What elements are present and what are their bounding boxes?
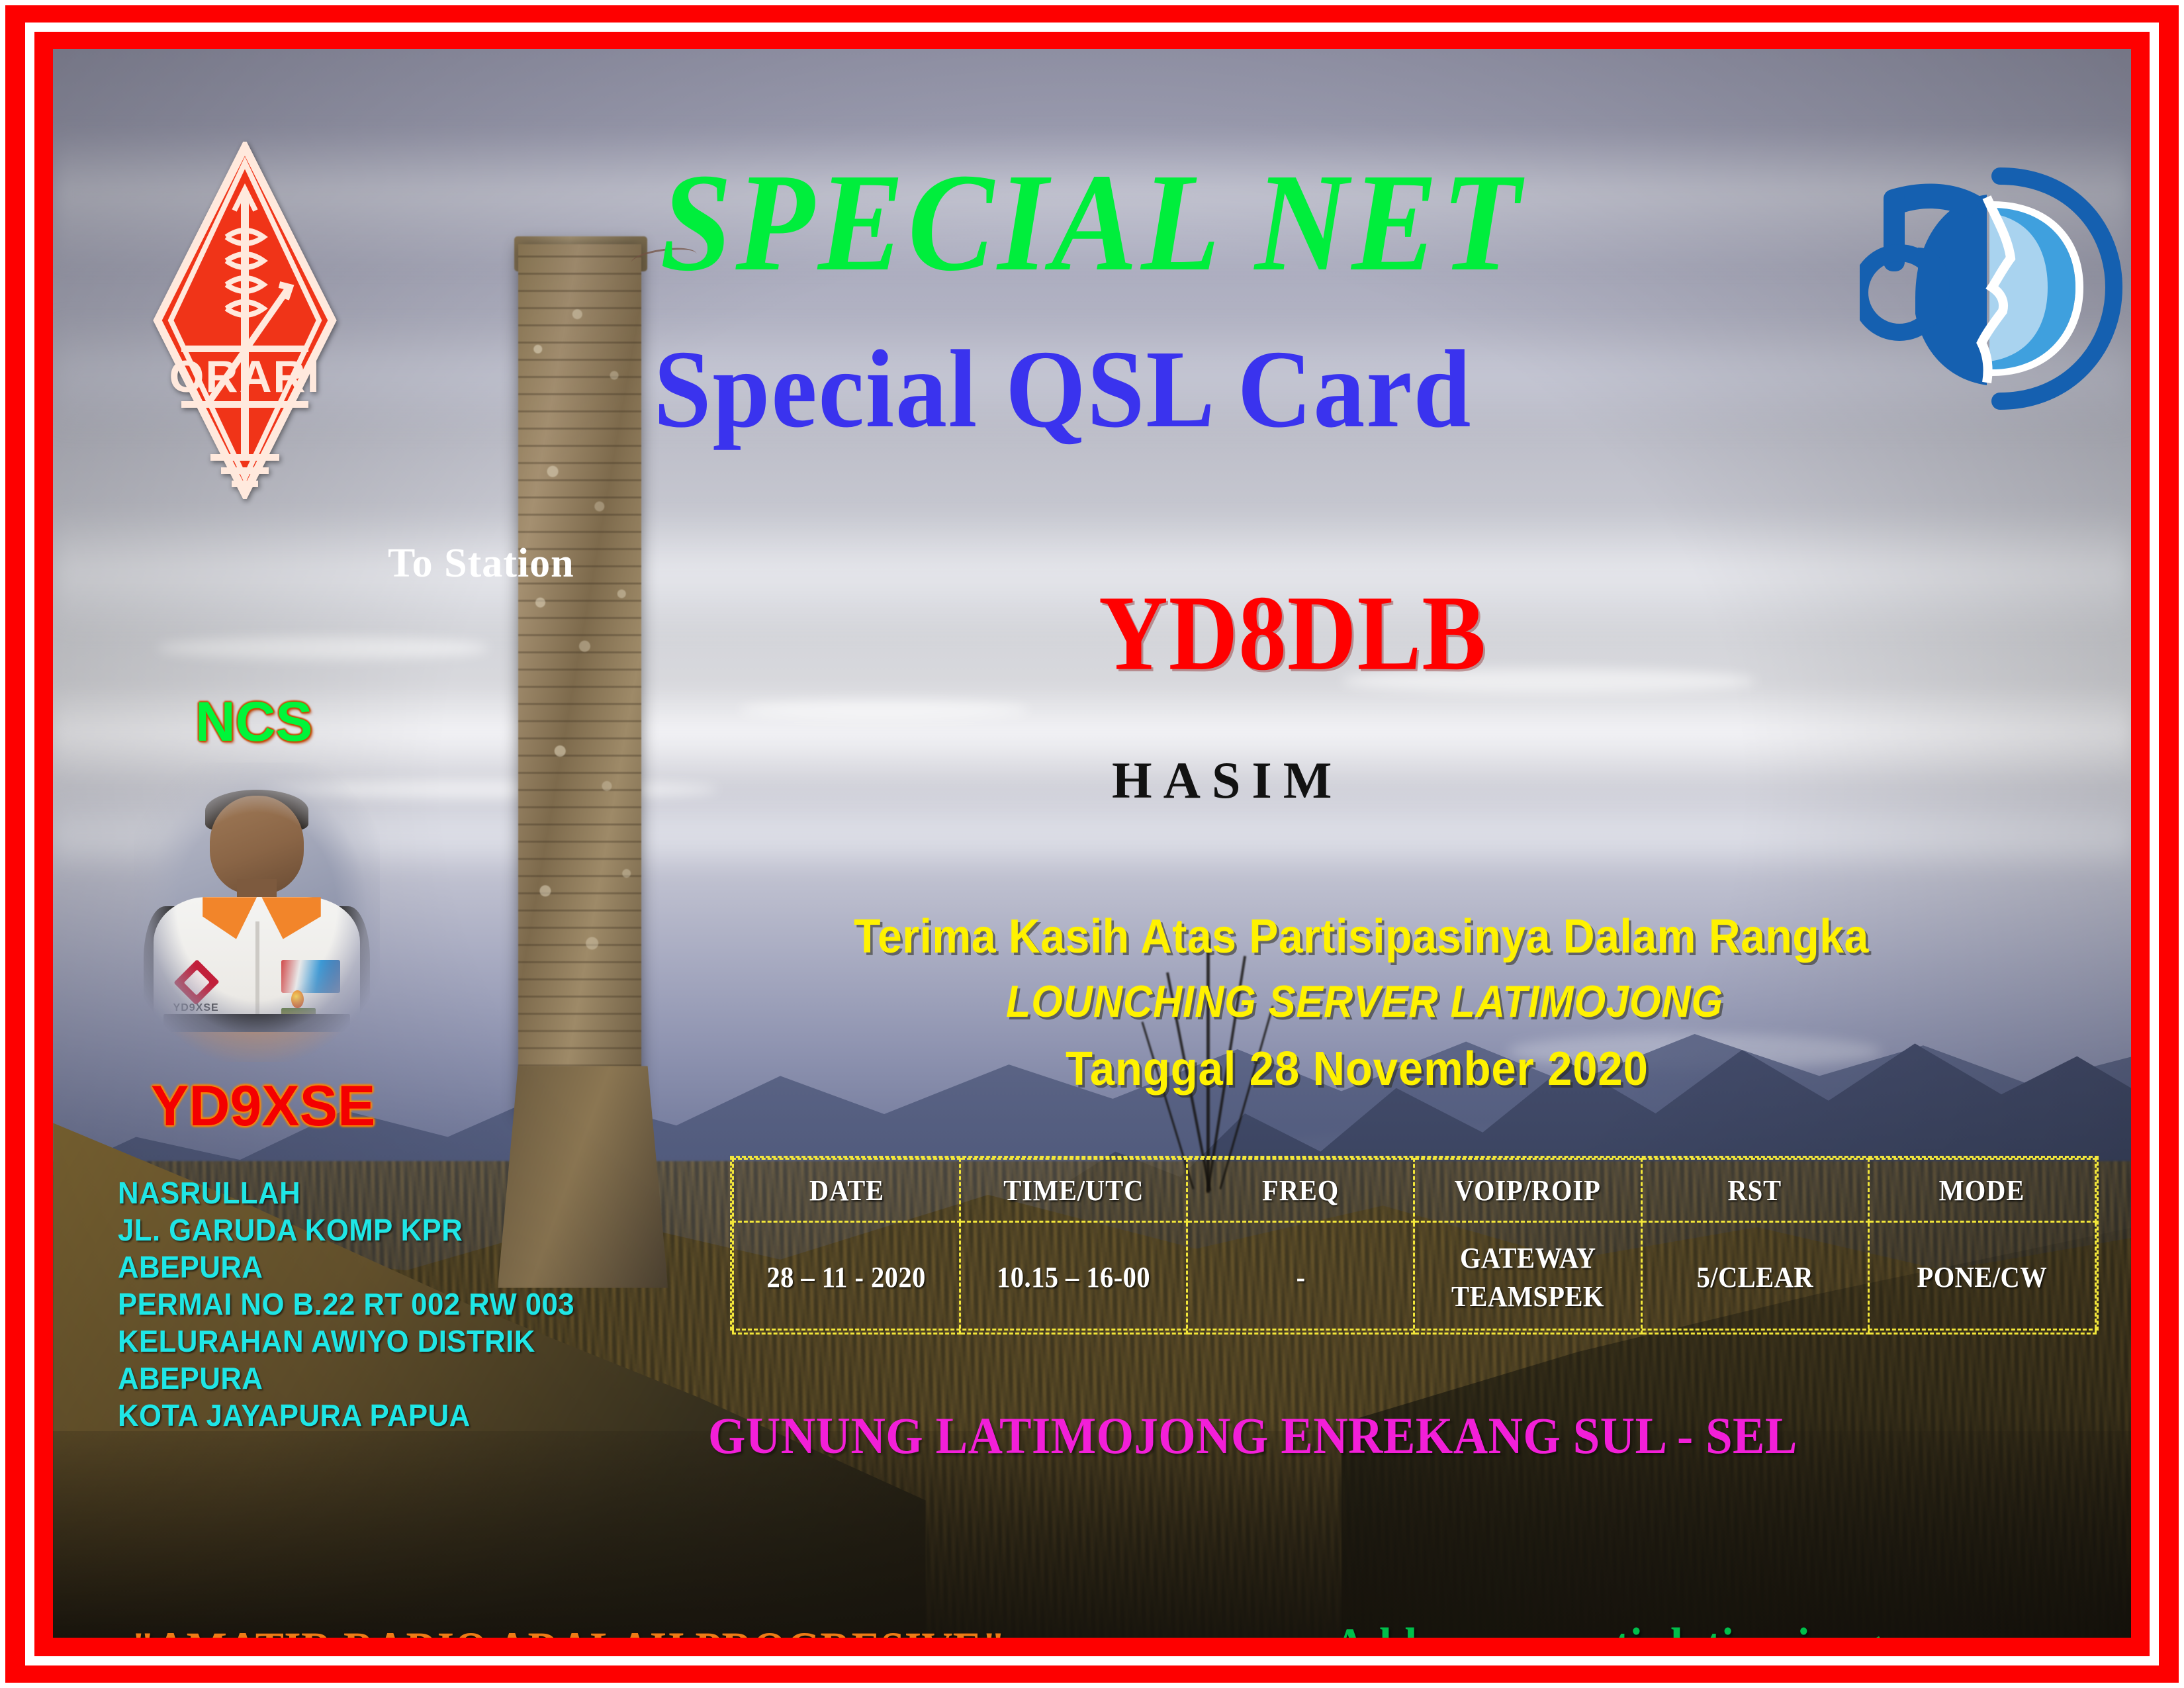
event-line: LOUNCHING SERVER LATIMOJONG: [1006, 976, 1803, 1027]
photo-belt: [163, 1014, 351, 1032]
page-subtitle: Special QSL Card: [623, 326, 1503, 453]
motto-line: "AMATIR RADIO ADALAH PROGRESIVE": [131, 1622, 1103, 1638]
table-header-freq: FREQ: [1187, 1159, 1414, 1222]
table-cell-date: 28 – 11 - 2020: [733, 1222, 960, 1334]
table-header-rst: RST: [1641, 1159, 1868, 1222]
address-line: JL. GARUDA KOMP KPR: [118, 1211, 574, 1248]
photo-hem: [158, 1032, 355, 1062]
page-subtitle-text: Special QSL Card: [654, 326, 1473, 453]
cloud-band: [53, 510, 2131, 637]
cloud-streak: [739, 700, 1030, 720]
table-header-date: DATE: [733, 1159, 960, 1222]
table-header-voip: VOIP/ROIP: [1414, 1159, 1641, 1222]
ncs-callsign: YD9XSE: [151, 1074, 375, 1139]
table-cell-voip: GATEWAY TEAMSPEK: [1414, 1222, 1641, 1334]
table-header-row: DATE TIME/UTC FREQ VOIP/ROIP RST MODE: [733, 1159, 2096, 1222]
photo-uniform-callsign: YD9XSE: [173, 1002, 219, 1014]
station-callsign: YD8DLB: [1099, 572, 1486, 695]
date-line: Tanggal 28 November 2020: [1066, 1042, 1692, 1096]
table-cell-rst: 5/CLEAR: [1641, 1222, 1868, 1334]
table-header-time: TIME/UTC: [960, 1159, 1187, 1222]
table-cell-mode: PONE/CW: [1868, 1222, 2095, 1334]
card-photo-area: ORARI: [53, 49, 2131, 1638]
address-line: KOTA JAYAPURA PAPUA: [118, 1397, 574, 1434]
photo-badge-reel: [291, 990, 304, 1008]
event-text: LOUNCHING SERVER LATIMOJONG: [1006, 976, 1723, 1027]
table-row: 28 – 11 - 2020 10.15 – 16-00 - GATEWAY T…: [733, 1222, 2096, 1334]
address-line: ABEPURA: [118, 1360, 574, 1397]
svg-text:ORARI: ORARI: [169, 352, 320, 402]
page-title: SPECIAL NET: [623, 142, 1562, 303]
table-cell-time: 10.15 – 16-00: [960, 1222, 1187, 1334]
address-line: KELURAHAN AWIYO DISTRIK: [118, 1323, 574, 1360]
address-line: ABEPURA: [118, 1248, 574, 1286]
web-address-line: Address : amatir.latimojong.com: [1334, 1618, 2029, 1638]
table-header-mode: MODE: [1868, 1159, 2095, 1222]
mailing-address: NASRULLAH JL. GARUDA KOMP KPR ABEPURA PE…: [118, 1174, 598, 1434]
to-station-label: To Station: [388, 540, 574, 587]
thanks-line: Terima Kasih Atas Partisipasinya Dalam R…: [854, 910, 1957, 964]
photo-club-patch: [281, 960, 340, 993]
orari-logo: ORARI: [152, 142, 338, 499]
date-text: Tanggal 28 November 2020: [1066, 1042, 1649, 1096]
ncs-operator-photo: YD9XSE: [134, 763, 380, 1062]
motto-text: "AMATIR RADIO ADALAH PROGRESIVE": [131, 1622, 1006, 1638]
operator-name: HASIM: [1112, 751, 1343, 810]
thanks-text: Terima Kasih Atas Partisipasinya Dalam R…: [854, 910, 1869, 964]
ncs-label: NCS: [195, 690, 312, 754]
qso-table: DATE TIME/UTC FREQ VOIP/ROIP RST MODE 28…: [730, 1156, 2099, 1331]
table-cell-freq: -: [1187, 1222, 1414, 1334]
web-address-text: Address : amatir.latimojong.com: [1334, 1618, 1974, 1638]
radio-headset-logo: [1860, 155, 2124, 420]
qsl-card: ORARI: [0, 0, 2184, 1688]
cloud-streak: [157, 637, 489, 659]
page-title-text: SPECIAL NET: [660, 142, 1524, 303]
location-line: GUNUNG LATIMOJONG ENREKANG SUL - SEL: [708, 1406, 1880, 1466]
address-line: NASRULLAH: [118, 1174, 574, 1211]
location-text: GUNUNG LATIMOJONG ENREKANG SUL - SEL: [708, 1406, 1797, 1466]
address-line: PERMAI NO B.22 RT 002 RW 003: [118, 1286, 574, 1323]
